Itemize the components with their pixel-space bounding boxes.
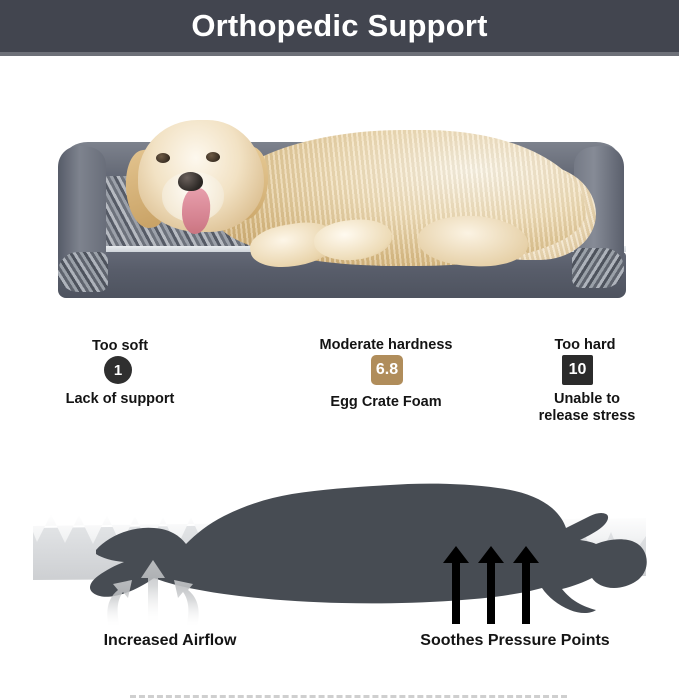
scale-soft-bottom-label: Lack of support (30, 391, 210, 408)
foam-diagram (0, 428, 679, 654)
golden-retriever-dog (118, 120, 588, 270)
soothes-pressure-points-label: Soothes Pressure Points (355, 632, 675, 650)
scale-moderate-bottom-label: Egg Crate Foam (276, 394, 496, 411)
scale-hard-bottom-label-line2: release stress (498, 408, 676, 425)
dog-nose (178, 172, 203, 191)
dog-eye-left (156, 153, 170, 163)
dog-eye-right (206, 152, 220, 162)
scale-moderate-badge: 6.8 (371, 355, 403, 385)
page-title: Orthopedic Support (0, 0, 679, 52)
scale-soft-badge: 1 (104, 356, 132, 384)
scale-hard-top-label: Too hard (500, 337, 670, 353)
scale-moderate-top-label: Moderate hardness (276, 337, 496, 353)
product-photo (0, 56, 679, 318)
scale-hard-badge: 10 (562, 355, 593, 385)
bed-left-bolster-cap (58, 252, 108, 292)
dog-silhouette-lying (90, 484, 647, 613)
scale-hard-bottom-label-line1: Unable to (498, 391, 676, 408)
pressure-arrows (443, 546, 539, 624)
scale-hard-bottom-label: Unable to release stress (498, 391, 676, 425)
increased-airflow-label: Increased Airflow (10, 632, 330, 650)
scale-soft-top-label: Too soft (50, 338, 190, 354)
foam-diagram-graphic (0, 428, 679, 654)
